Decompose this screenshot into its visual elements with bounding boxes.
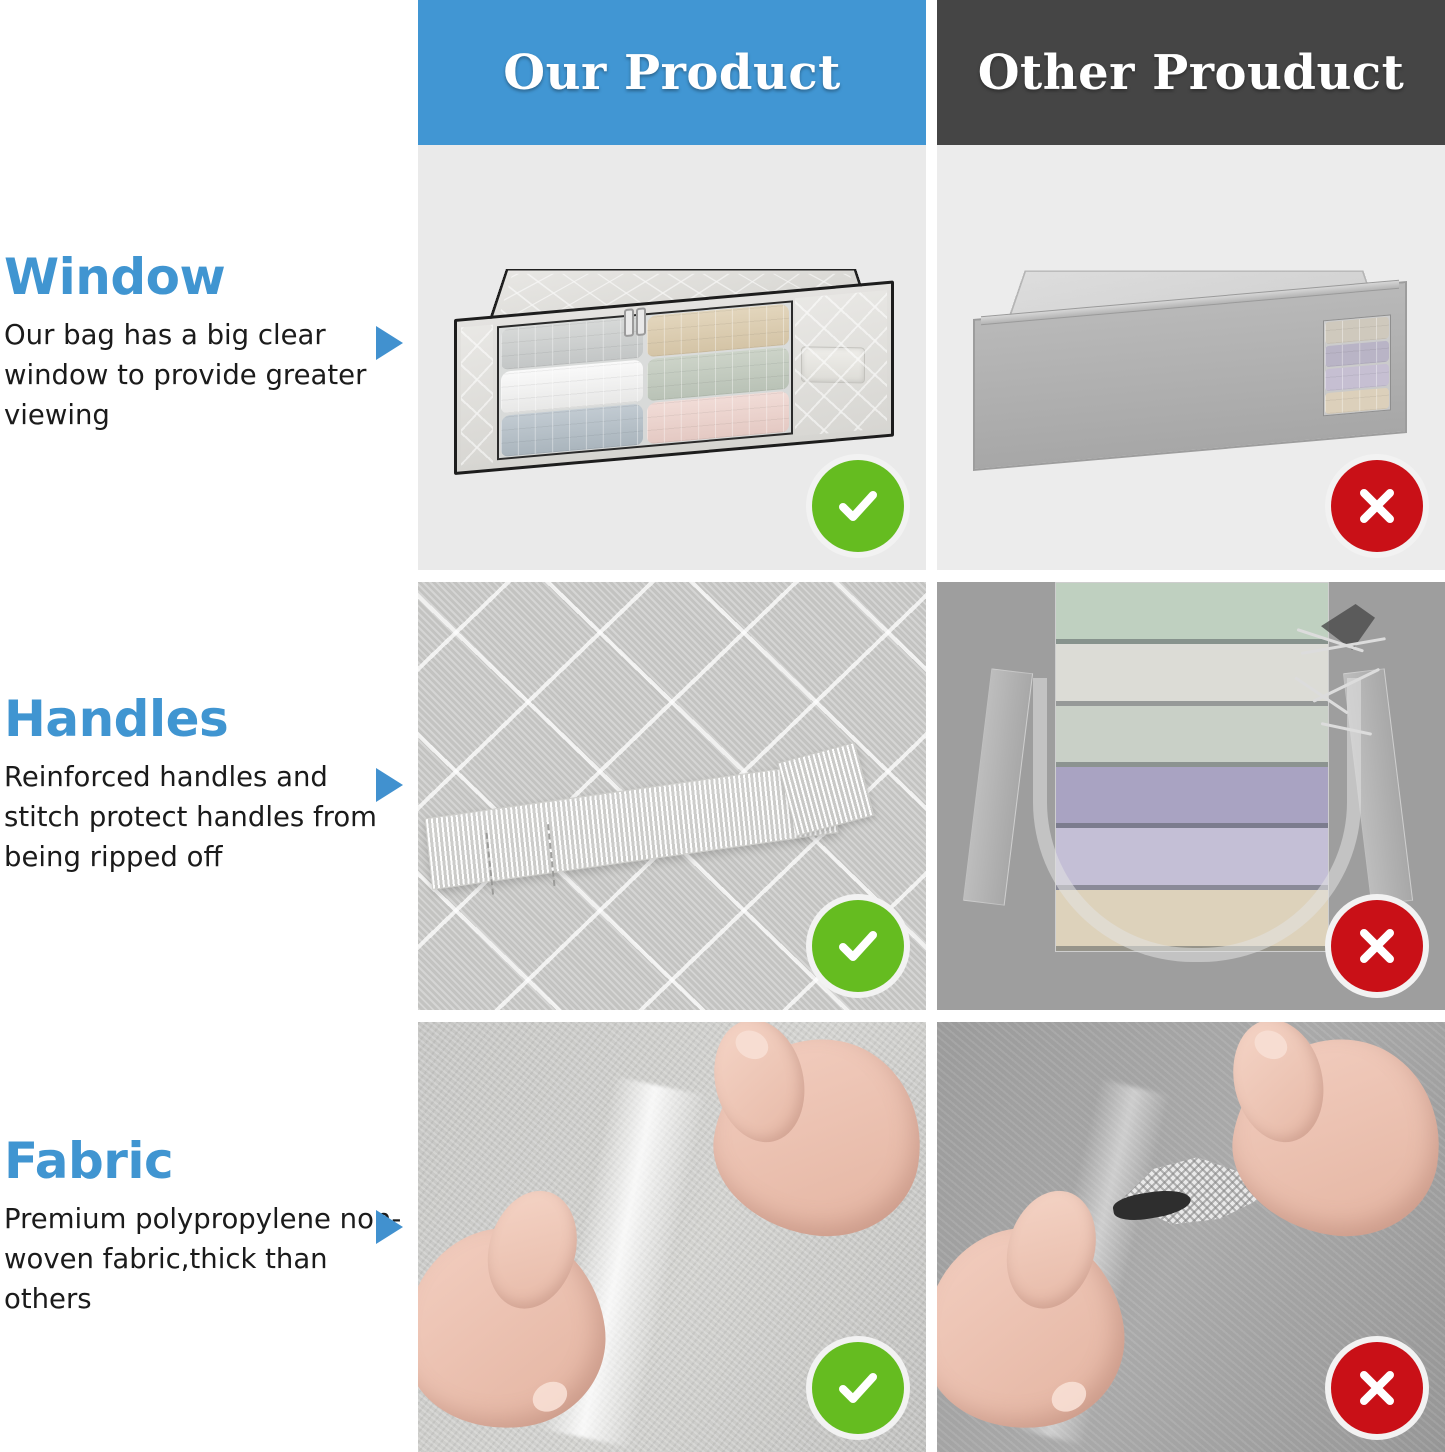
check-circle-icon	[831, 479, 885, 533]
feature-title-fabric: Fabric	[4, 1136, 418, 1186]
feature-description-handles: Reinforced handles and stitch protect ha…	[4, 758, 402, 878]
triangle-right-icon	[376, 326, 403, 360]
towel	[1325, 364, 1389, 391]
hand-left	[418, 1181, 626, 1448]
other-storage-bag	[967, 225, 1415, 470]
towel-stack-right	[645, 303, 791, 446]
frayed-threads	[1291, 618, 1411, 748]
cross-circle-icon	[1351, 1362, 1403, 1414]
image-other-ripped-handle	[937, 582, 1445, 1010]
image-our-bag-window	[418, 145, 926, 570]
feature-description-window: Our bag has a big clear window to provid…	[4, 316, 402, 436]
towel	[1325, 387, 1389, 414]
bag-side-handle	[801, 346, 865, 383]
hand-right	[1218, 1022, 1445, 1264]
column-header-our-product: Our Product	[418, 0, 926, 145]
triangle-right-icon	[376, 1210, 403, 1244]
check-circle-icon	[831, 1361, 885, 1415]
cell-handles-other	[937, 582, 1445, 1010]
our-storage-bag	[446, 223, 896, 473]
product-comparison-infographic: Window Our bag has a big clear window to…	[0, 0, 1445, 1452]
stitch-line	[486, 832, 498, 894]
towel	[1325, 340, 1389, 367]
bag-side-panel-right	[795, 290, 887, 436]
image-other-bag-window	[937, 145, 1445, 570]
cross-circle-icon	[1351, 480, 1403, 532]
check-circle-icon	[831, 919, 885, 973]
column-header-other-product: Other Prouduct	[937, 0, 1445, 145]
triangle-right-icon	[376, 768, 403, 802]
feature-block-handles: Handles Reinforced handles and stitch pr…	[0, 694, 418, 878]
zipper-pull-icon	[622, 307, 648, 339]
cell-window-ours	[418, 145, 926, 570]
hand-right	[699, 1022, 926, 1264]
image-our-fabric-strength-test	[418, 1022, 926, 1452]
other-bag-small-window	[1323, 314, 1391, 416]
cell-fabric-ours	[418, 1022, 926, 1452]
stitch-line	[547, 824, 559, 886]
reinforced-handle-strap	[422, 747, 872, 891]
verdict-badge-check	[812, 900, 904, 992]
feature-block-window: Window Our bag has a big clear window to…	[0, 252, 418, 436]
feature-block-fabric: Fabric Premium polypropylene non-woven f…	[0, 1136, 418, 1320]
column-header-our-product-label: Our Product	[503, 45, 840, 101]
feature-title-handles: Handles	[4, 694, 418, 744]
cell-handles-ours	[418, 582, 926, 1010]
handle-webbing	[425, 761, 839, 890]
feature-title-window: Window	[4, 252, 418, 302]
verdict-badge-check	[812, 460, 904, 552]
image-other-fabric-tear-test	[937, 1022, 1445, 1452]
cell-fabric-other	[937, 1022, 1445, 1452]
verdict-badge-check	[812, 1342, 904, 1434]
hand-left	[937, 1181, 1145, 1448]
cross-circle-icon	[1351, 920, 1403, 972]
verdict-badge-cross	[1331, 460, 1423, 552]
verdict-badge-cross	[1331, 900, 1423, 992]
cell-window-other	[937, 145, 1445, 570]
bag-side-panel-left	[461, 325, 493, 466]
handle-anchor-left	[963, 668, 1033, 905]
feature-text-column: Window Our bag has a big clear window to…	[0, 0, 418, 1452]
towel	[1325, 317, 1389, 344]
verdict-badge-cross	[1331, 1342, 1423, 1434]
feature-description-fabric: Premium polypropylene non-woven fabric,t…	[4, 1200, 402, 1320]
towel-band	[1056, 583, 1328, 644]
comparison-grid: Our Product Other Prouduct	[418, 0, 1445, 1452]
column-header-other-product-label: Other Prouduct	[978, 45, 1405, 101]
image-our-reinforced-handle	[418, 582, 926, 1010]
